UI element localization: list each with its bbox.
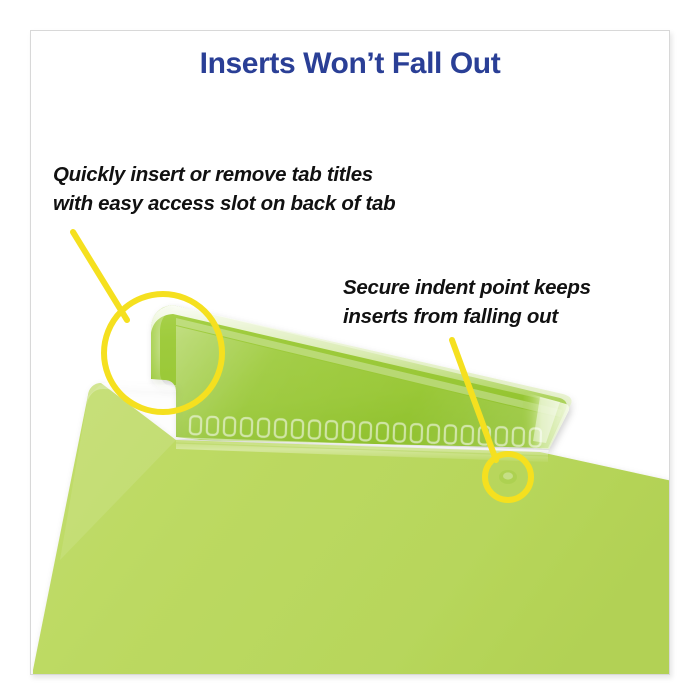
callout-caption-left-line2: with easy access slot on back of tab bbox=[53, 189, 395, 218]
page-title: Inserts Won’t Fall Out bbox=[0, 47, 700, 81]
callout-caption-right-line2: inserts from falling out bbox=[343, 302, 591, 331]
product-feature-graphic: Inserts Won’t Fall Out Quickly insert or… bbox=[0, 0, 700, 700]
callout-caption-left-line1: Quickly insert or remove tab titles bbox=[53, 160, 395, 189]
callout-caption-left: Quickly insert or remove tab titles with… bbox=[53, 160, 395, 218]
callout-caption-right: Secure indent point keeps inserts from f… bbox=[343, 273, 591, 331]
callout-caption-right-line1: Secure indent point keeps bbox=[343, 273, 591, 302]
image-frame bbox=[30, 30, 670, 675]
